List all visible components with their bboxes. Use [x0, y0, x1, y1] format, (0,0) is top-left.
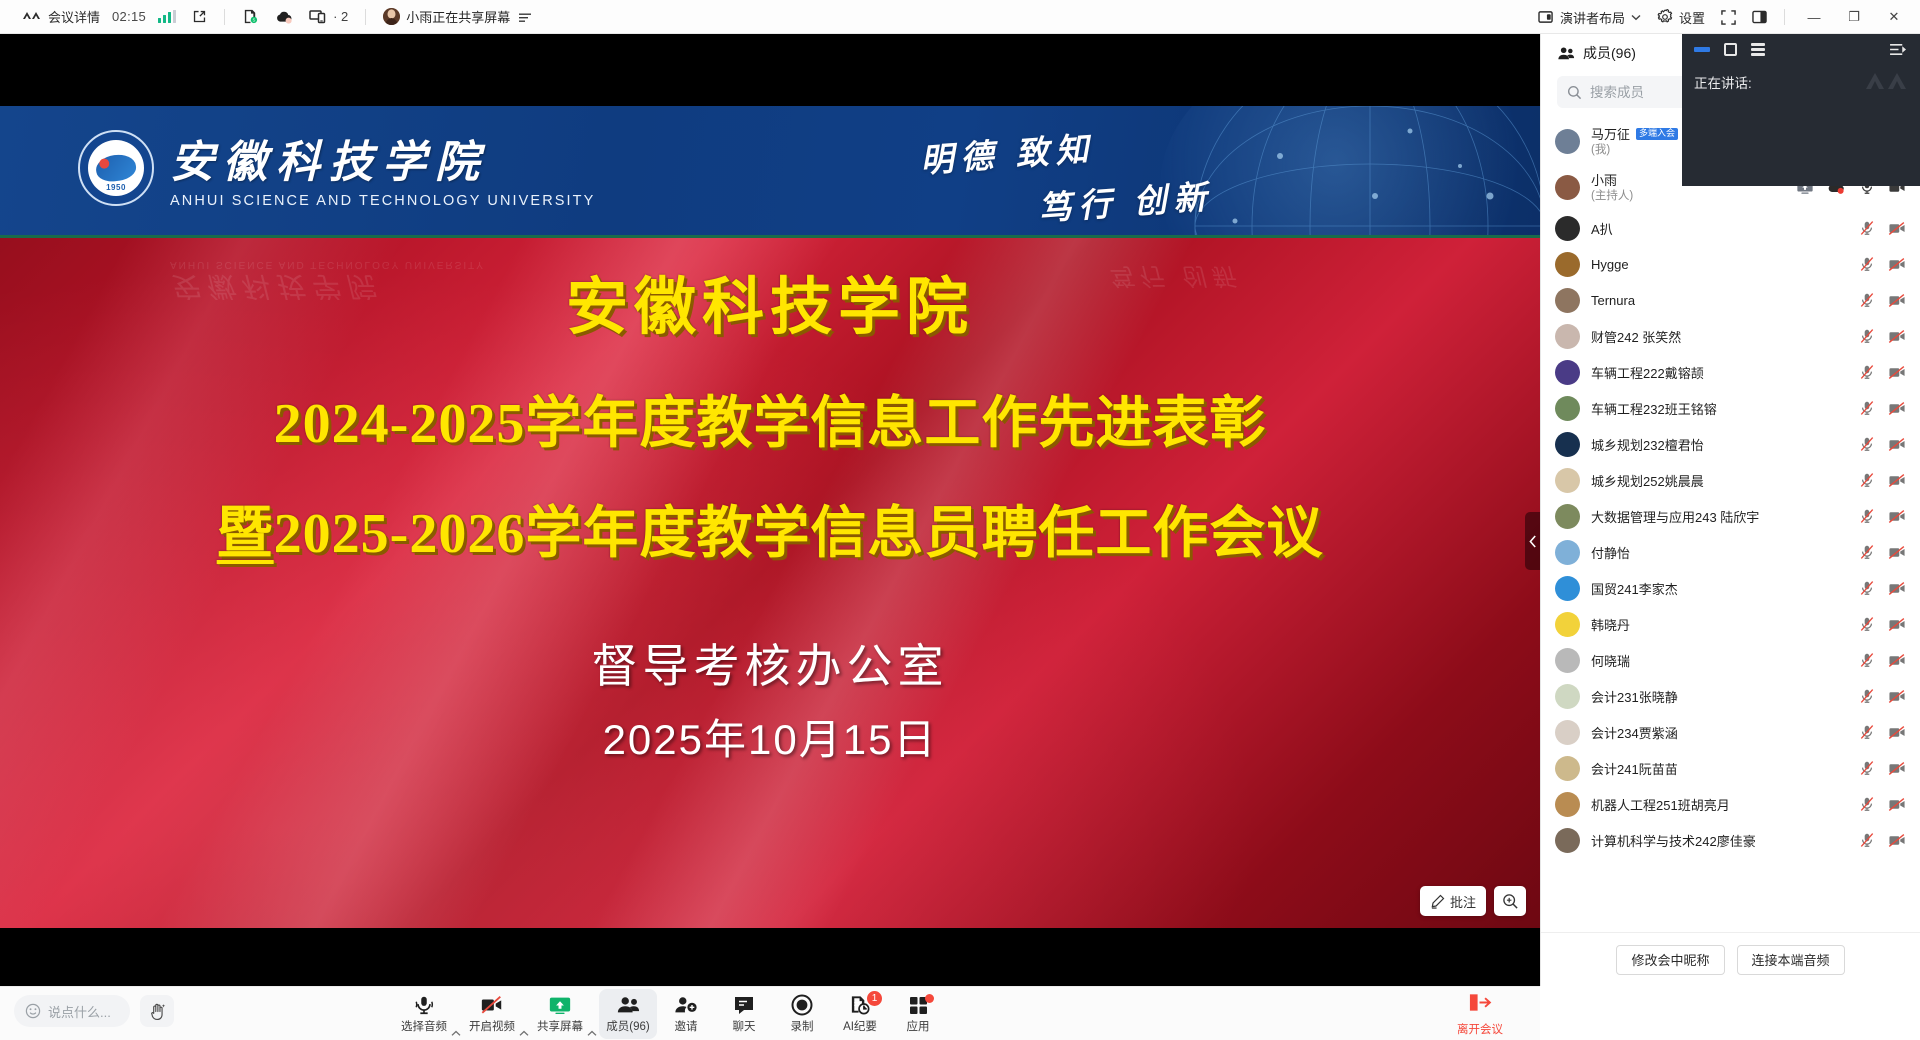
meeting-doc-icon: S	[242, 8, 259, 25]
participant-name: 小雨	[1591, 170, 1617, 189]
emoji-icon	[25, 1003, 41, 1019]
avatar	[1555, 720, 1580, 745]
participant-name-wrap: 车辆工程222戴镕颉	[1591, 363, 1848, 382]
avatar	[1555, 324, 1580, 349]
close-button[interactable]: ✕	[1874, 1, 1914, 33]
participant-name-line: 付静怡	[1591, 543, 1848, 562]
participant-name-line: Ternura	[1591, 293, 1848, 308]
participant-name-line: 车辆工程232班王铭镕	[1591, 399, 1848, 418]
chat-icon	[733, 994, 755, 1016]
leave-meeting-icon	[1468, 992, 1492, 1018]
settings-label: 设置	[1679, 8, 1705, 27]
toolbar-item-label: AI纪要	[843, 1018, 877, 1034]
participant-name-wrap: 车辆工程232班王铭镕	[1591, 399, 1848, 418]
participant-status-icons	[1859, 472, 1906, 488]
leave-meeting-button[interactable]: 离开会议	[1448, 991, 1512, 1037]
network-status-button[interactable]	[150, 4, 184, 30]
avatar	[1555, 216, 1580, 241]
participant-row[interactable]: 会计234贾紫涵	[1541, 714, 1920, 750]
participant-name-wrap: 城乡规划232檀君怡	[1591, 435, 1848, 454]
avatar	[1555, 252, 1580, 277]
university-name-cn: 安徽科技学院	[170, 126, 595, 190]
microphone-muted-icon[interactable]	[1859, 616, 1875, 632]
svg-text:S: S	[253, 18, 256, 23]
avatar	[1555, 576, 1580, 601]
motto-line-2: 笃行 创新	[1037, 170, 1215, 230]
sharing-label: 小雨正在共享屏幕	[406, 7, 510, 26]
participant-name: 韩晓丹	[1591, 615, 1630, 634]
slide-title-line-2: 2024-2025学年度教学信息工作先进表彰	[0, 378, 1540, 459]
settings-button[interactable]: 设置	[1649, 4, 1713, 30]
avatar	[1555, 432, 1580, 457]
avatar	[1555, 468, 1580, 493]
participant-name-line: Hygge	[1591, 257, 1848, 272]
signal-bars-icon	[158, 10, 176, 23]
participant-status-icons	[1859, 256, 1906, 272]
participant-row[interactable]: Ternura	[1541, 282, 1920, 318]
camera-off-icon[interactable]	[1888, 797, 1906, 812]
participant-status-icons	[1859, 616, 1906, 632]
minimize-button[interactable]: —	[1794, 1, 1834, 33]
toolbar-item-chat[interactable]: 聊天	[715, 989, 773, 1039]
participant-name-wrap: 会计231张晓静	[1591, 687, 1848, 706]
participant-name-line: 韩晓丹	[1591, 615, 1848, 634]
participant-status-icons	[1859, 364, 1906, 380]
microphone-muted-icon[interactable]	[1859, 796, 1875, 812]
participant-name: 计算机科学与技术242廖佳豪	[1591, 831, 1756, 850]
participant-name: Ternura	[1591, 293, 1635, 308]
logo-swoosh	[94, 152, 137, 183]
participant-name-line: 会计231张晓静	[1591, 687, 1848, 706]
participant-name-line: 财管242 张笑然	[1591, 327, 1848, 346]
devices-icon	[309, 9, 327, 24]
slide-body: 安徽科技学院 2024-2025学年度教学信息工作先进表彰 暨2025-2026…	[0, 238, 1540, 928]
apps-badge-dot	[925, 994, 934, 1003]
side-panel-button[interactable]	[1744, 4, 1775, 30]
participant-row[interactable]: 会计231张晓静	[1541, 678, 1920, 714]
participants-icon	[1557, 46, 1575, 61]
toolbar-item-label: 共享屏幕	[537, 1018, 583, 1034]
participant-name: 城乡规划232檀君怡	[1591, 435, 1704, 454]
microphone-muted-icon[interactable]	[1859, 832, 1875, 848]
participant-row[interactable]: Hygge	[1541, 246, 1920, 282]
fullscreen-button[interactable]	[1713, 4, 1744, 30]
chevron-down-icon	[1631, 14, 1641, 21]
toolbar-item-share-screen[interactable]: 共享屏幕	[531, 989, 589, 1039]
bottom-toolbar: 说点什么... 选择音频 开启视频	[0, 986, 1540, 1040]
camera-off-icon[interactable]	[1888, 257, 1906, 272]
camera-off-icon[interactable]	[1888, 473, 1906, 488]
participant-name-line: 城乡规划232檀君怡	[1591, 435, 1848, 454]
invite-icon	[674, 994, 698, 1016]
participant-name: 马万征	[1591, 124, 1630, 143]
participant-row[interactable]: 会计241阮苗苗	[1541, 750, 1920, 786]
minimize-icon[interactable]	[1694, 47, 1710, 52]
popout-window-button[interactable]	[184, 4, 215, 30]
microphone-muted-icon[interactable]	[1859, 436, 1875, 452]
layout-button[interactable]: 演讲者布局	[1530, 4, 1649, 30]
say-something-input[interactable]: 说点什么...	[14, 995, 130, 1027]
participant-name: 付静怡	[1591, 543, 1630, 562]
microphone-muted-icon[interactable]	[1859, 292, 1875, 308]
participant-row[interactable]: 财管242 张笑然	[1541, 318, 1920, 354]
slide-subtitle-line-2: 2025年10月15日	[0, 706, 1540, 767]
participant-status-icons	[1859, 688, 1906, 704]
participant-name-line: 国贸241李家杰	[1591, 579, 1848, 598]
meeting-doc-button[interactable]: S	[234, 4, 267, 30]
participant-name-wrap: 机器人工程251班胡亮月	[1591, 795, 1848, 814]
participant-row[interactable]: 计算机科学与技术242廖佳豪	[1541, 822, 1920, 858]
participant-name: A扒	[1591, 219, 1613, 238]
participant-name-wrap: 何晓瑞	[1591, 651, 1848, 670]
motto-line-1: 明德 致知	[919, 122, 1097, 182]
share-screen-icon	[548, 994, 572, 1016]
logo-circle: 1950	[78, 130, 154, 206]
participant-name-line: 计算机科学与技术242廖佳豪	[1591, 831, 1848, 850]
camera-off-icon[interactable]	[1888, 725, 1906, 740]
toolbar-item-apps[interactable]: 应用	[889, 989, 947, 1039]
participant-name-wrap: 会计241阮苗苗	[1591, 759, 1848, 778]
microphone-muted-icon[interactable]	[1859, 760, 1875, 776]
slide-subtitle-line-1: 督导考核办公室	[0, 630, 1540, 696]
participant-row[interactable]: 韩晓丹	[1541, 606, 1920, 642]
list-view-icon[interactable]	[1751, 43, 1765, 56]
participant-name-wrap: 计算机科学与技术242廖佳豪	[1591, 831, 1848, 850]
avatar	[1555, 540, 1580, 565]
camera-off-icon[interactable]	[1888, 689, 1906, 704]
side-panel-icon	[1752, 10, 1767, 24]
title-bar-left: 会议详情 02:15 S	[0, 4, 540, 30]
participant-status-icons	[1859, 652, 1906, 668]
avatar	[1555, 360, 1580, 385]
meeting-timer: 02:15	[108, 9, 150, 24]
microphone-muted-icon[interactable]	[1859, 508, 1875, 524]
zoom-in-button[interactable]	[1494, 886, 1526, 916]
participant-name: 会计231张晓静	[1591, 687, 1678, 706]
toolbar-item-audio[interactable]: 选择音频	[395, 989, 453, 1039]
participant-status-icons	[1859, 544, 1906, 560]
participant-name: 车辆工程222戴镕颉	[1591, 363, 1704, 382]
participant-row[interactable]: 何晓瑞	[1541, 642, 1920, 678]
participant-status-icons	[1859, 832, 1906, 848]
tencent-meeting-logo-icon	[22, 10, 42, 23]
microphone-muted-icon[interactable]	[1859, 400, 1875, 416]
participant-status-icons	[1859, 220, 1906, 236]
camera-off-icon[interactable]	[1888, 437, 1906, 452]
participants-list[interactable]: 马万征多端入会(我)小雨(主持人)A扒HyggeTernura财管242 张笑然…	[1541, 118, 1920, 932]
toolbar-center: 选择音频 开启视频 共享屏幕	[395, 989, 947, 1039]
participant-name-line: 会计234贾紫涵	[1591, 723, 1848, 742]
divider	[365, 9, 366, 25]
toolbar-left: 说点什么...	[14, 995, 174, 1027]
participant-role: (主持人)	[1591, 190, 1785, 204]
participant-name-wrap: 国贸241李家杰	[1591, 579, 1848, 598]
participant-name-line: 车辆工程222戴镕颉	[1591, 363, 1848, 382]
participant-name-line: 机器人工程251班胡亮月	[1591, 795, 1848, 814]
participant-row[interactable]: 国贸241李家杰	[1541, 570, 1920, 606]
slide-banner: 1950 安徽科技学院 ANHUI SCIENCE AND TECHNOLOGY…	[0, 106, 1540, 238]
microphone-muted-icon[interactable]	[1859, 256, 1875, 272]
pencil-icon	[1430, 894, 1445, 909]
participant-name-wrap: 城乡规划252姚晨晨	[1591, 471, 1848, 490]
participant-name-wrap: Ternura	[1591, 293, 1848, 308]
rename-button[interactable]: 修改会中昵称	[1616, 945, 1724, 975]
microphone-muted-icon[interactable]	[1859, 652, 1875, 668]
participant-row[interactable]: 城乡规划252姚晨晨	[1541, 462, 1920, 498]
participant-status-icons	[1859, 796, 1906, 812]
camera-off-icon[interactable]	[1888, 293, 1906, 308]
participant-name-line: 城乡规划252姚晨晨	[1591, 471, 1848, 490]
ai-summary-badge: 1	[867, 991, 882, 1006]
participant-status-icons	[1859, 292, 1906, 308]
record-icon	[791, 994, 813, 1016]
participant-row[interactable]: 城乡规划232檀君怡	[1541, 426, 1920, 462]
university-names: 安徽科技学院 ANHUI SCIENCE AND TECHNOLOGY UNIV…	[170, 126, 595, 209]
meeting-window: 会议详情 02:15 S	[0, 0, 1920, 1040]
participant-name: 国贸241李家杰	[1591, 579, 1678, 598]
meeting-details-button[interactable]: 会议详情	[14, 4, 108, 30]
toolbar-item-record[interactable]: 录制	[773, 989, 831, 1039]
zoom-in-icon	[1502, 893, 1519, 910]
microphone-muted-icon[interactable]	[1859, 724, 1875, 740]
search-icon	[1567, 85, 1582, 100]
avatar	[383, 8, 400, 25]
fullscreen-icon	[1721, 10, 1736, 25]
camera-off-icon[interactable]	[1888, 581, 1906, 596]
devices-button[interactable]: · 2	[301, 4, 356, 30]
collapse-panel-handle[interactable]	[1525, 512, 1540, 570]
participant-name-line: 何晓瑞	[1591, 651, 1848, 670]
participant-name: 车辆工程232班王铭镕	[1591, 399, 1717, 418]
toolbar-item-ai-summary[interactable]: 1 AI纪要	[831, 989, 889, 1039]
participant-name-wrap: 大数据管理与应用243 陆欣宇	[1591, 507, 1848, 526]
title-bar: 会议详情 02:15 S	[0, 0, 1920, 34]
avatar	[1555, 175, 1580, 200]
participants-panel-footer: 修改会中昵称 连接本端音频	[1541, 932, 1920, 986]
toolbar-item-participants[interactable]: 成员(96)	[599, 989, 657, 1039]
microphone-icon	[413, 994, 435, 1016]
participant-status-icons	[1859, 328, 1906, 344]
participant-row[interactable]: 车辆工程222戴镕颉	[1541, 354, 1920, 390]
camera-off-icon[interactable]	[1888, 653, 1906, 668]
toolbar-item-video[interactable]: 开启视频	[463, 989, 521, 1039]
participant-row[interactable]: 机器人工程251班胡亮月	[1541, 786, 1920, 822]
avatar	[1555, 756, 1580, 781]
participant-status-icons	[1859, 580, 1906, 596]
participant-status-icons	[1859, 760, 1906, 776]
chevron-left-icon	[1529, 535, 1537, 548]
microphone-muted-icon[interactable]	[1859, 220, 1875, 236]
popout-window-icon	[192, 9, 207, 24]
avatar	[1555, 504, 1580, 529]
participant-name: Hygge	[1591, 257, 1629, 272]
cloud-record-icon	[275, 10, 293, 24]
raise-hand-button[interactable]	[140, 995, 174, 1027]
speaker-floating-panel: 正在讲话:	[1682, 34, 1920, 186]
divider	[1784, 9, 1785, 25]
camera-off-icon[interactable]	[1888, 833, 1906, 848]
camera-off-icon[interactable]	[1888, 509, 1906, 524]
raise-hand-icon	[148, 1002, 167, 1021]
participant-status-icons	[1859, 436, 1906, 452]
devices-count: · 2	[333, 9, 348, 24]
participant-status-icons	[1859, 724, 1906, 740]
participant-name-wrap: 韩晓丹	[1591, 615, 1848, 634]
motto-calligraphy: 明德 致知 笃行 创新	[910, 120, 1240, 228]
multi-device-badge: 多端入会	[1636, 128, 1678, 140]
toolbar-item-invite[interactable]: 邀请	[657, 989, 715, 1039]
slide-title-line-3-rest: 2025-2026学年度教学信息员聘任工作会议	[274, 503, 1324, 565]
camera-off-icon[interactable]	[1888, 545, 1906, 560]
toolbar-item-label: 邀请	[675, 1018, 698, 1034]
participants-panel-title: 成员(96)	[1583, 43, 1636, 63]
title-bar-right: 演讲者布局 设置 —	[1530, 0, 1914, 34]
avatar	[1555, 396, 1580, 421]
participant-name: 会计241阮苗苗	[1591, 759, 1678, 778]
divider	[224, 9, 225, 25]
microphone-muted-icon[interactable]	[1859, 328, 1875, 344]
participant-name: 会计234贾紫涵	[1591, 723, 1678, 742]
avatar	[1555, 288, 1580, 313]
camera-off-icon[interactable]	[1888, 329, 1906, 344]
leave-meeting-label: 离开会议	[1457, 1021, 1503, 1037]
participant-name: 城乡规划252姚晨晨	[1591, 471, 1704, 490]
avatar	[1555, 129, 1580, 154]
shared-screen-stage: 1950 安徽科技学院 ANHUI SCIENCE AND TECHNOLOGY…	[0, 34, 1540, 986]
slide-title-line-3: 暨2025-2026学年度教学信息员聘任工作会议	[0, 488, 1540, 569]
participants-icon	[616, 994, 640, 1016]
watermark-logo-icon	[1864, 70, 1910, 97]
logo-year: 1950	[106, 183, 126, 192]
toolbar-item-label: 开启视频	[469, 1018, 515, 1034]
layout-label: 演讲者布局	[1560, 8, 1625, 27]
slide-title-line-3-underlined: 暨	[217, 503, 274, 565]
toolbar-item-label: 成员(96)	[606, 1018, 649, 1034]
camera-off-icon[interactable]	[1888, 401, 1906, 416]
meeting-details-label: 会议详情	[48, 7, 100, 26]
university-name-en: ANHUI SCIENCE AND TECHNOLOGY UNIVERSITY	[170, 193, 595, 209]
restore-window-icon[interactable]	[1724, 43, 1737, 56]
avatar	[1555, 612, 1580, 637]
participant-name: 大数据管理与应用243 陆欣宇	[1591, 507, 1759, 526]
annotate-button[interactable]: 批注	[1420, 886, 1486, 916]
cloud-record-button[interactable]	[267, 4, 301, 30]
maximize-button[interactable]: ❐	[1834, 1, 1874, 33]
microphone-muted-icon[interactable]	[1859, 472, 1875, 488]
participant-name-wrap: 付静怡	[1591, 543, 1848, 562]
avatar	[1555, 648, 1580, 673]
participant-name-line: 大数据管理与应用243 陆欣宇	[1591, 507, 1848, 526]
participant-row[interactable]: A扒	[1541, 210, 1920, 246]
university-logo: 1950 安徽科技学院 ANHUI SCIENCE AND TECHNOLOGY…	[78, 126, 595, 209]
toolbar-item-label: 聊天	[733, 1018, 756, 1034]
microphone-muted-icon[interactable]	[1859, 544, 1875, 560]
toolbar-item-label: 应用	[907, 1018, 930, 1034]
participant-name-wrap: A扒	[1591, 219, 1848, 238]
connect-audio-button[interactable]: 连接本端音频	[1737, 945, 1845, 975]
participant-name-line: A扒	[1591, 219, 1848, 238]
speaker-panel-toolbar	[1682, 34, 1920, 64]
avatar	[1555, 684, 1580, 709]
microphone-muted-icon[interactable]	[1859, 364, 1875, 380]
expand-panel-icon[interactable]	[1889, 42, 1908, 57]
participant-name-line: 会计241阮苗苗	[1591, 759, 1848, 778]
participant-name-wrap: Hygge	[1591, 257, 1848, 272]
participant-row[interactable]: 大数据管理与应用243 陆欣宇	[1541, 498, 1920, 534]
slide-title-line-1: 安徽科技学院	[0, 256, 1540, 346]
sharing-indicator[interactable]: 小雨正在共享屏幕	[375, 4, 540, 30]
toolbar-item-label: 选择音频	[401, 1018, 447, 1034]
participant-name-wrap: 财管242 张笑然	[1591, 327, 1848, 346]
microphone-muted-icon[interactable]	[1859, 688, 1875, 704]
layout-icon	[1538, 10, 1554, 24]
camera-off-icon	[480, 994, 504, 1016]
annotate-label: 批注	[1450, 892, 1476, 911]
participant-status-icons	[1859, 400, 1906, 416]
microphone-muted-icon[interactable]	[1859, 580, 1875, 596]
participant-row[interactable]: 车辆工程232班王铭镕	[1541, 390, 1920, 426]
participant-status-icons	[1859, 508, 1906, 524]
camera-off-icon[interactable]	[1888, 221, 1906, 236]
participant-name: 机器人工程251班胡亮月	[1591, 795, 1730, 814]
avatar	[1555, 792, 1580, 817]
logo-inner: 1950	[88, 140, 144, 196]
avatar	[1555, 828, 1580, 853]
more-options-icon[interactable]	[518, 11, 532, 23]
say-something-placeholder: 说点什么...	[48, 1002, 111, 1021]
participant-row[interactable]: 付静怡	[1541, 534, 1920, 570]
toolbar-item-label: 录制	[791, 1018, 814, 1034]
participant-name: 何晓瑞	[1591, 651, 1630, 670]
participant-name-wrap: 会计234贾紫涵	[1591, 723, 1848, 742]
participant-name: 财管242 张笑然	[1591, 327, 1681, 346]
camera-off-icon[interactable]	[1888, 365, 1906, 380]
camera-off-icon[interactable]	[1888, 617, 1906, 632]
presentation-slide: 1950 安徽科技学院 ANHUI SCIENCE AND TECHNOLOGY…	[0, 106, 1540, 928]
slide-tools: 批注	[1420, 886, 1526, 916]
camera-off-icon[interactable]	[1888, 761, 1906, 776]
gear-icon	[1657, 9, 1673, 25]
